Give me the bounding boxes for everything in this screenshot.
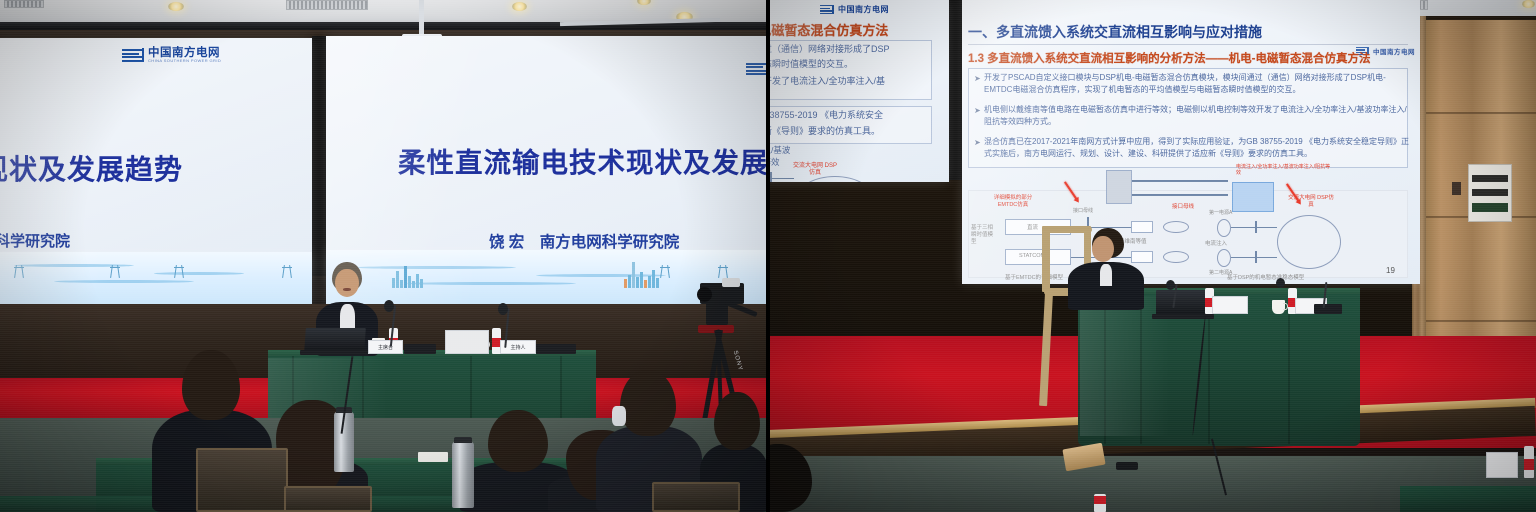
ceiling-vent — [286, 0, 368, 10]
pylon-icon — [14, 265, 24, 278]
csg-logo-cn: 中国南方电网 — [838, 4, 889, 15]
wood-seam — [1420, 320, 1536, 322]
plate-slot — [1472, 189, 1509, 196]
wood-seam — [1420, 112, 1536, 114]
monitor-panel — [445, 330, 489, 354]
tech-right-heading-1: 一、多直流馈入系统交直流相互影响与应对措施 — [968, 22, 1262, 42]
tech-right-slide-number: 19 — [1386, 266, 1395, 275]
diagram-coil — [1163, 251, 1189, 263]
screenshot-root: 中国南方电网 CHINA SOUTHERN POWER GRID 现状及发展趋势… — [0, 0, 1536, 512]
diagram-caption-emtdc: 基于EMTDC的详细模型 — [1005, 273, 1063, 281]
tech-right-heading-2: 1.3 多直流馈入系统交直流相互影响的分析方法——机电-电磁暂态混合仿真方法 — [968, 50, 1371, 66]
diagram-wire — [1132, 180, 1228, 182]
diagram-grid-ellipse — [1277, 215, 1341, 269]
audience-head — [714, 392, 760, 450]
tech-right-bullet: 混合仿真已在2017-2021年南网方式计算中应用，得到了实际应用验证，为GB … — [984, 136, 1414, 164]
video-camera-viewfinder — [722, 278, 740, 287]
tech-left-line: 应新《导则》要求的仿真工具。 — [768, 124, 880, 137]
diagram-coil — [1163, 221, 1189, 233]
pylon-icon — [718, 265, 728, 278]
csg-logo-en: CHINA SOUTHERN POWER GRID — [148, 59, 221, 63]
csg-logo-mark — [820, 5, 834, 14]
audience-chair — [196, 448, 288, 512]
ceiling-downlight — [168, 2, 184, 11]
csg-logo-cn: 中国南方电网 — [1373, 46, 1415, 56]
desk-nameplate — [1486, 452, 1518, 478]
city-skyline-left — [392, 266, 423, 288]
pylon-icon — [282, 265, 292, 278]
wave — [54, 280, 194, 283]
tech-left-diagram-bar — [770, 172, 772, 182]
slide-affiliation-left-crop: 网科学研究院 — [0, 230, 70, 251]
panel-divider — [766, 0, 770, 512]
csg-logo-cn: 中国南方电网 — [148, 47, 221, 59]
diagram-label-bus: 接口母线 — [1073, 207, 1093, 214]
desk-device — [536, 344, 576, 354]
audience-member — [768, 444, 816, 512]
tech-right-bullet: 机电侧以戴维南等值电路在电磁暂态仿真中进行等效；电磁侧以机电控制等效开发了电流注… — [984, 104, 1414, 130]
presenter-shirt — [1100, 264, 1112, 286]
face-mask — [612, 406, 626, 426]
audience-chair — [652, 482, 740, 512]
presenter-chair-back — [1042, 226, 1050, 292]
csg-logo-mark — [122, 48, 144, 62]
thermos-cap — [454, 437, 472, 443]
projection-screen-left: 中国南方电网 CHINA SOUTHERN POWER GRID 现状及发展趋势… — [0, 38, 312, 276]
nameplate: 主席台 — [368, 340, 403, 354]
plate-slot — [1472, 175, 1509, 182]
diagram-bar — [1255, 251, 1257, 263]
diagram-wire — [1231, 227, 1277, 228]
microphone-head — [1276, 278, 1285, 288]
diagram-label-injection-modes: 电流注入/全功率注入/基波功率注入/阻抗等效 — [1236, 164, 1332, 177]
diagram-label-src1: 第一电源A — [1209, 209, 1232, 216]
tripod-head — [706, 303, 728, 325]
presenter-laptop-lid — [304, 328, 366, 352]
water-bottle — [1524, 446, 1534, 478]
desk-device — [404, 344, 436, 354]
tech-left-line: 效开发了电流注入/全功率注入/基 — [768, 74, 885, 87]
tech-slide-right: 中国南方电网 一、多直流馈入系统交直流相互影响与应对措施 1.3 多直流馈入系统… — [962, 0, 1420, 284]
csg-logo: 中国南方电网 CHINA SOUTHERN POWER GRID — [746, 44, 768, 94]
diagram-source — [1217, 249, 1231, 267]
audience-head — [488, 410, 548, 472]
pylon-icon — [110, 265, 120, 278]
projector-pole — [419, 0, 424, 36]
csg-logo-mark — [746, 62, 768, 76]
diagram-wire — [1132, 194, 1228, 196]
diagram-source — [1217, 219, 1231, 237]
projection-screen-tech-right: 中国南方电网 一、多直流馈入系统交直流相互影响与应对措施 1.3 多直流馈入系统… — [962, 0, 1420, 284]
audience-desk — [1400, 486, 1536, 512]
screen-divider — [312, 36, 326, 276]
skyline-graphic — [0, 252, 312, 304]
diagram-label-dc: 直流 — [1027, 223, 1038, 231]
pylon-icon — [174, 265, 184, 278]
slide-presenter: 饶 宏 南方电网科学研究院 — [489, 230, 679, 252]
tea-mug — [1272, 300, 1285, 314]
csg-logo: 中国南方电网 CHINA SOUTHERN POWER GRID — [122, 47, 221, 63]
diagram-label-interface: 基于三相瞬时值模型 — [971, 225, 995, 246]
presenter-laptop-lid — [1156, 290, 1208, 316]
diagram-label-interface-line: 接口母线 — [1172, 202, 1194, 210]
audience-chair — [284, 486, 372, 512]
left-photo: 中国南方电网 CHINA SOUTHERN POWER GRID 现状及发展趋势… — [0, 0, 768, 512]
nameplate — [1212, 296, 1248, 314]
water-bottle — [1094, 494, 1106, 512]
plate-indicator — [1472, 203, 1509, 212]
wave — [356, 266, 516, 269]
wall-control-plate — [1468, 164, 1512, 222]
paper-stack — [418, 452, 448, 462]
presenter-laptop-base — [300, 350, 368, 355]
microphone-head — [498, 303, 508, 315]
tech-left-line: 注入/基波 — [768, 144, 790, 156]
slide-title-left-crop: 现状及发展趋势 — [0, 148, 183, 188]
microphone-head — [1166, 280, 1175, 290]
tech-left-line: 暂态瞬时值模型的交互。 — [768, 57, 853, 70]
video-camera-lens — [697, 287, 712, 302]
diagram-bar — [1255, 221, 1257, 233]
wave — [406, 282, 576, 285]
ceiling-downlight — [1522, 0, 1535, 8]
pylon-icon — [660, 265, 670, 278]
audience-head — [768, 444, 812, 512]
slide-title: 柔性直流输电技术现状及发展趋势 — [398, 140, 768, 180]
wall-socket — [1452, 182, 1461, 195]
tech-slide-left: 中国南方电网 -电磁暂态混合仿真方法 通过（通信）网络对接形成了DSP 暂态瞬时… — [768, 0, 949, 182]
tech-right-bullet: 开发了PSCAD自定义接口模块与DSP机电-电磁暂态混合仿真模块，模块间通过（通… — [984, 72, 1414, 98]
nameplate-text: 主持人 — [510, 344, 525, 351]
csg-logo: 中国南方电网 — [820, 4, 889, 15]
presenter-face — [335, 269, 359, 297]
diagram-interface-block — [1106, 170, 1132, 204]
diagram-caption-dsp: 基于DSP的机电暂态准稳态模型 — [1227, 273, 1304, 281]
diagram-label-injection: 电流注入 — [1205, 239, 1227, 247]
projection-screen-right: 中国南方电网 CHINA SOUTHERN POWER GRID 柔性直流输电技… — [326, 36, 768, 278]
presenter-mouth — [343, 288, 351, 291]
audience-head — [182, 350, 240, 420]
diagram-wire — [1231, 257, 1277, 258]
tech-left-diagram-ellipse — [796, 176, 874, 182]
csg-logo-text: 中国南方电网 CHINA SOUTHERN POWER GRID — [148, 47, 221, 63]
bullet-marker: ➤ — [974, 138, 981, 147]
bottle-label — [1094, 496, 1106, 504]
wave — [154, 272, 244, 275]
bullet-marker: ➤ — [974, 106, 981, 115]
bottle-label — [1524, 459, 1534, 470]
ceiling-vent — [4, 0, 44, 8]
table-fold — [1288, 296, 1290, 444]
microphone-head — [384, 300, 394, 312]
projection-screen-tech-left: 中国南方电网 -电磁暂态混合仿真方法 通过（通信）网络对接形成了DSP 暂态瞬时… — [768, 0, 949, 182]
diagram-label-emtdc: 详细模拟的部分 EMTDC仿真 — [985, 195, 1041, 208]
tech-left-heading: -电磁暂态混合仿真方法 — [768, 20, 888, 39]
bullet-marker: ➤ — [974, 74, 981, 83]
presenter-face — [1092, 236, 1114, 262]
screen-divider — [949, 0, 962, 180]
thermos-flask — [452, 442, 474, 508]
diagram-highlight-block — [1232, 182, 1274, 212]
ceiling-downlight — [512, 2, 527, 11]
tech-left-diagram-label: 交流大电网 DSP仿真 — [792, 163, 838, 176]
city-skyline-right — [624, 262, 659, 288]
presenter — [1068, 228, 1144, 310]
tech-right-heading-rule — [968, 44, 1408, 45]
audience-head — [620, 370, 676, 436]
tech-left-line: GB 38755-2019 《电力系统安全 — [768, 108, 883, 121]
right-photo: 中国南方电网 -电磁暂态混合仿真方法 通过（通信）网络对接形成了DSP 暂态瞬时… — [768, 0, 1536, 512]
tech-left-line: 通过（通信）网络对接形成了DSP — [768, 42, 890, 55]
floor-cable-box — [1116, 462, 1138, 470]
slide-skyline-band — [0, 252, 312, 304]
desk-device — [1314, 304, 1342, 314]
